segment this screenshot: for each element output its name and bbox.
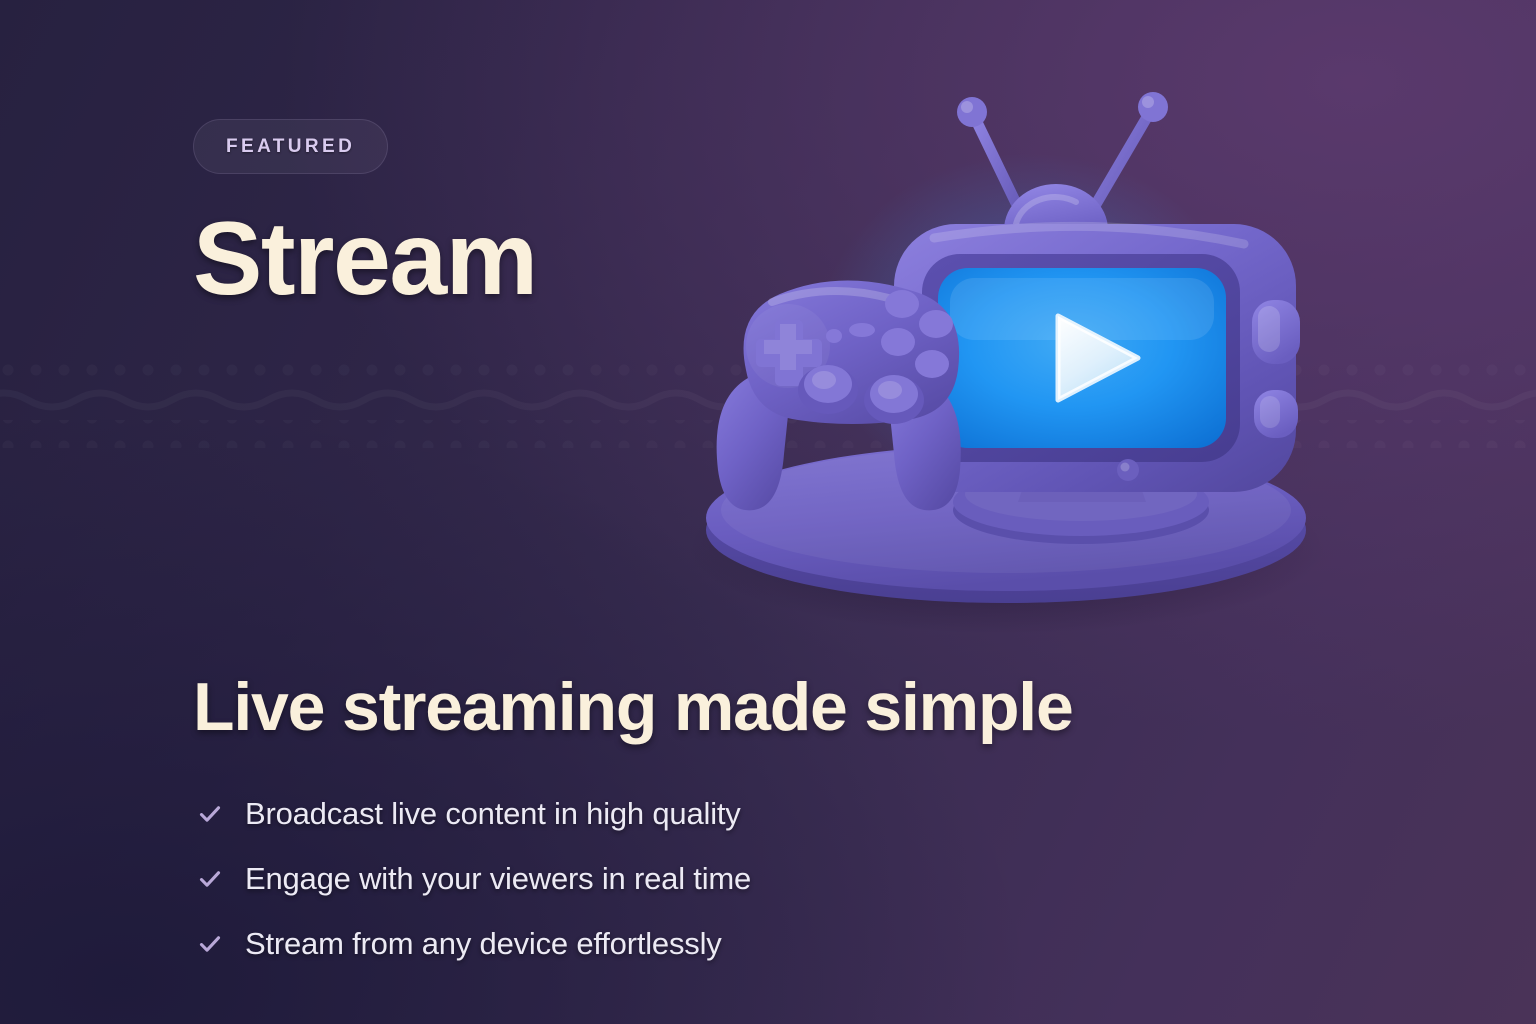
dot-row-top <box>0 352 1536 380</box>
retro-tv-and-gamepad-illustration <box>676 78 1336 638</box>
gamepad-body <box>717 280 961 510</box>
antenna-ball-left <box>957 97 987 127</box>
antenna-ball-right <box>1138 92 1168 122</box>
tv-pedestal <box>953 450 1209 544</box>
tv-dome <box>1004 184 1108 230</box>
check-icon <box>197 801 223 827</box>
gamepad-dpad <box>746 304 830 388</box>
ground-shadow <box>686 462 1326 634</box>
gamepad-start-button <box>849 323 875 337</box>
screen-glow <box>821 153 1241 503</box>
feature-label: Engage with your viewers in real time <box>245 861 751 897</box>
feature-list: Broadcast live content in high quality E… <box>197 795 751 963</box>
headline: Live streaming made simple <box>193 672 1073 743</box>
play-triangle-icon <box>1058 316 1138 400</box>
feature-label: Stream from any device effortlessly <box>245 926 722 962</box>
list-item: Broadcast live content in high quality <box>197 795 751 833</box>
check-icon <box>197 866 223 892</box>
featured-badge: FEATURED <box>193 119 388 174</box>
tv-antenna-left <box>957 97 1028 228</box>
check-icon <box>197 931 223 957</box>
feature-label: Broadcast live content in high quality <box>245 796 741 832</box>
dotted-wave-band <box>0 352 1536 448</box>
tv-antenna-right <box>1082 92 1168 228</box>
gamepad-analog-stick-left <box>798 365 858 414</box>
tv-screen <box>938 268 1226 448</box>
list-item: Stream from any device effortlessly <box>197 925 751 963</box>
featured-badge-label: FEATURED <box>226 136 355 158</box>
hero-banner: FEATURED Stream <box>0 0 1536 1024</box>
gamepad-face-buttons <box>881 290 953 378</box>
gamepad-select-button <box>826 329 842 343</box>
gamepad-analog-stick-right <box>864 375 924 424</box>
oval-platform <box>706 445 1306 603</box>
page-title: Stream <box>193 207 537 311</box>
tv-indicator-dot <box>1117 459 1139 481</box>
tv-knob-small <box>1254 390 1298 438</box>
tv-body <box>894 224 1300 492</box>
wave-line <box>0 393 1536 407</box>
dot-row-bottom <box>0 420 1536 448</box>
tv-knob-large <box>1252 300 1300 364</box>
list-item: Engage with your viewers in real time <box>197 860 751 898</box>
